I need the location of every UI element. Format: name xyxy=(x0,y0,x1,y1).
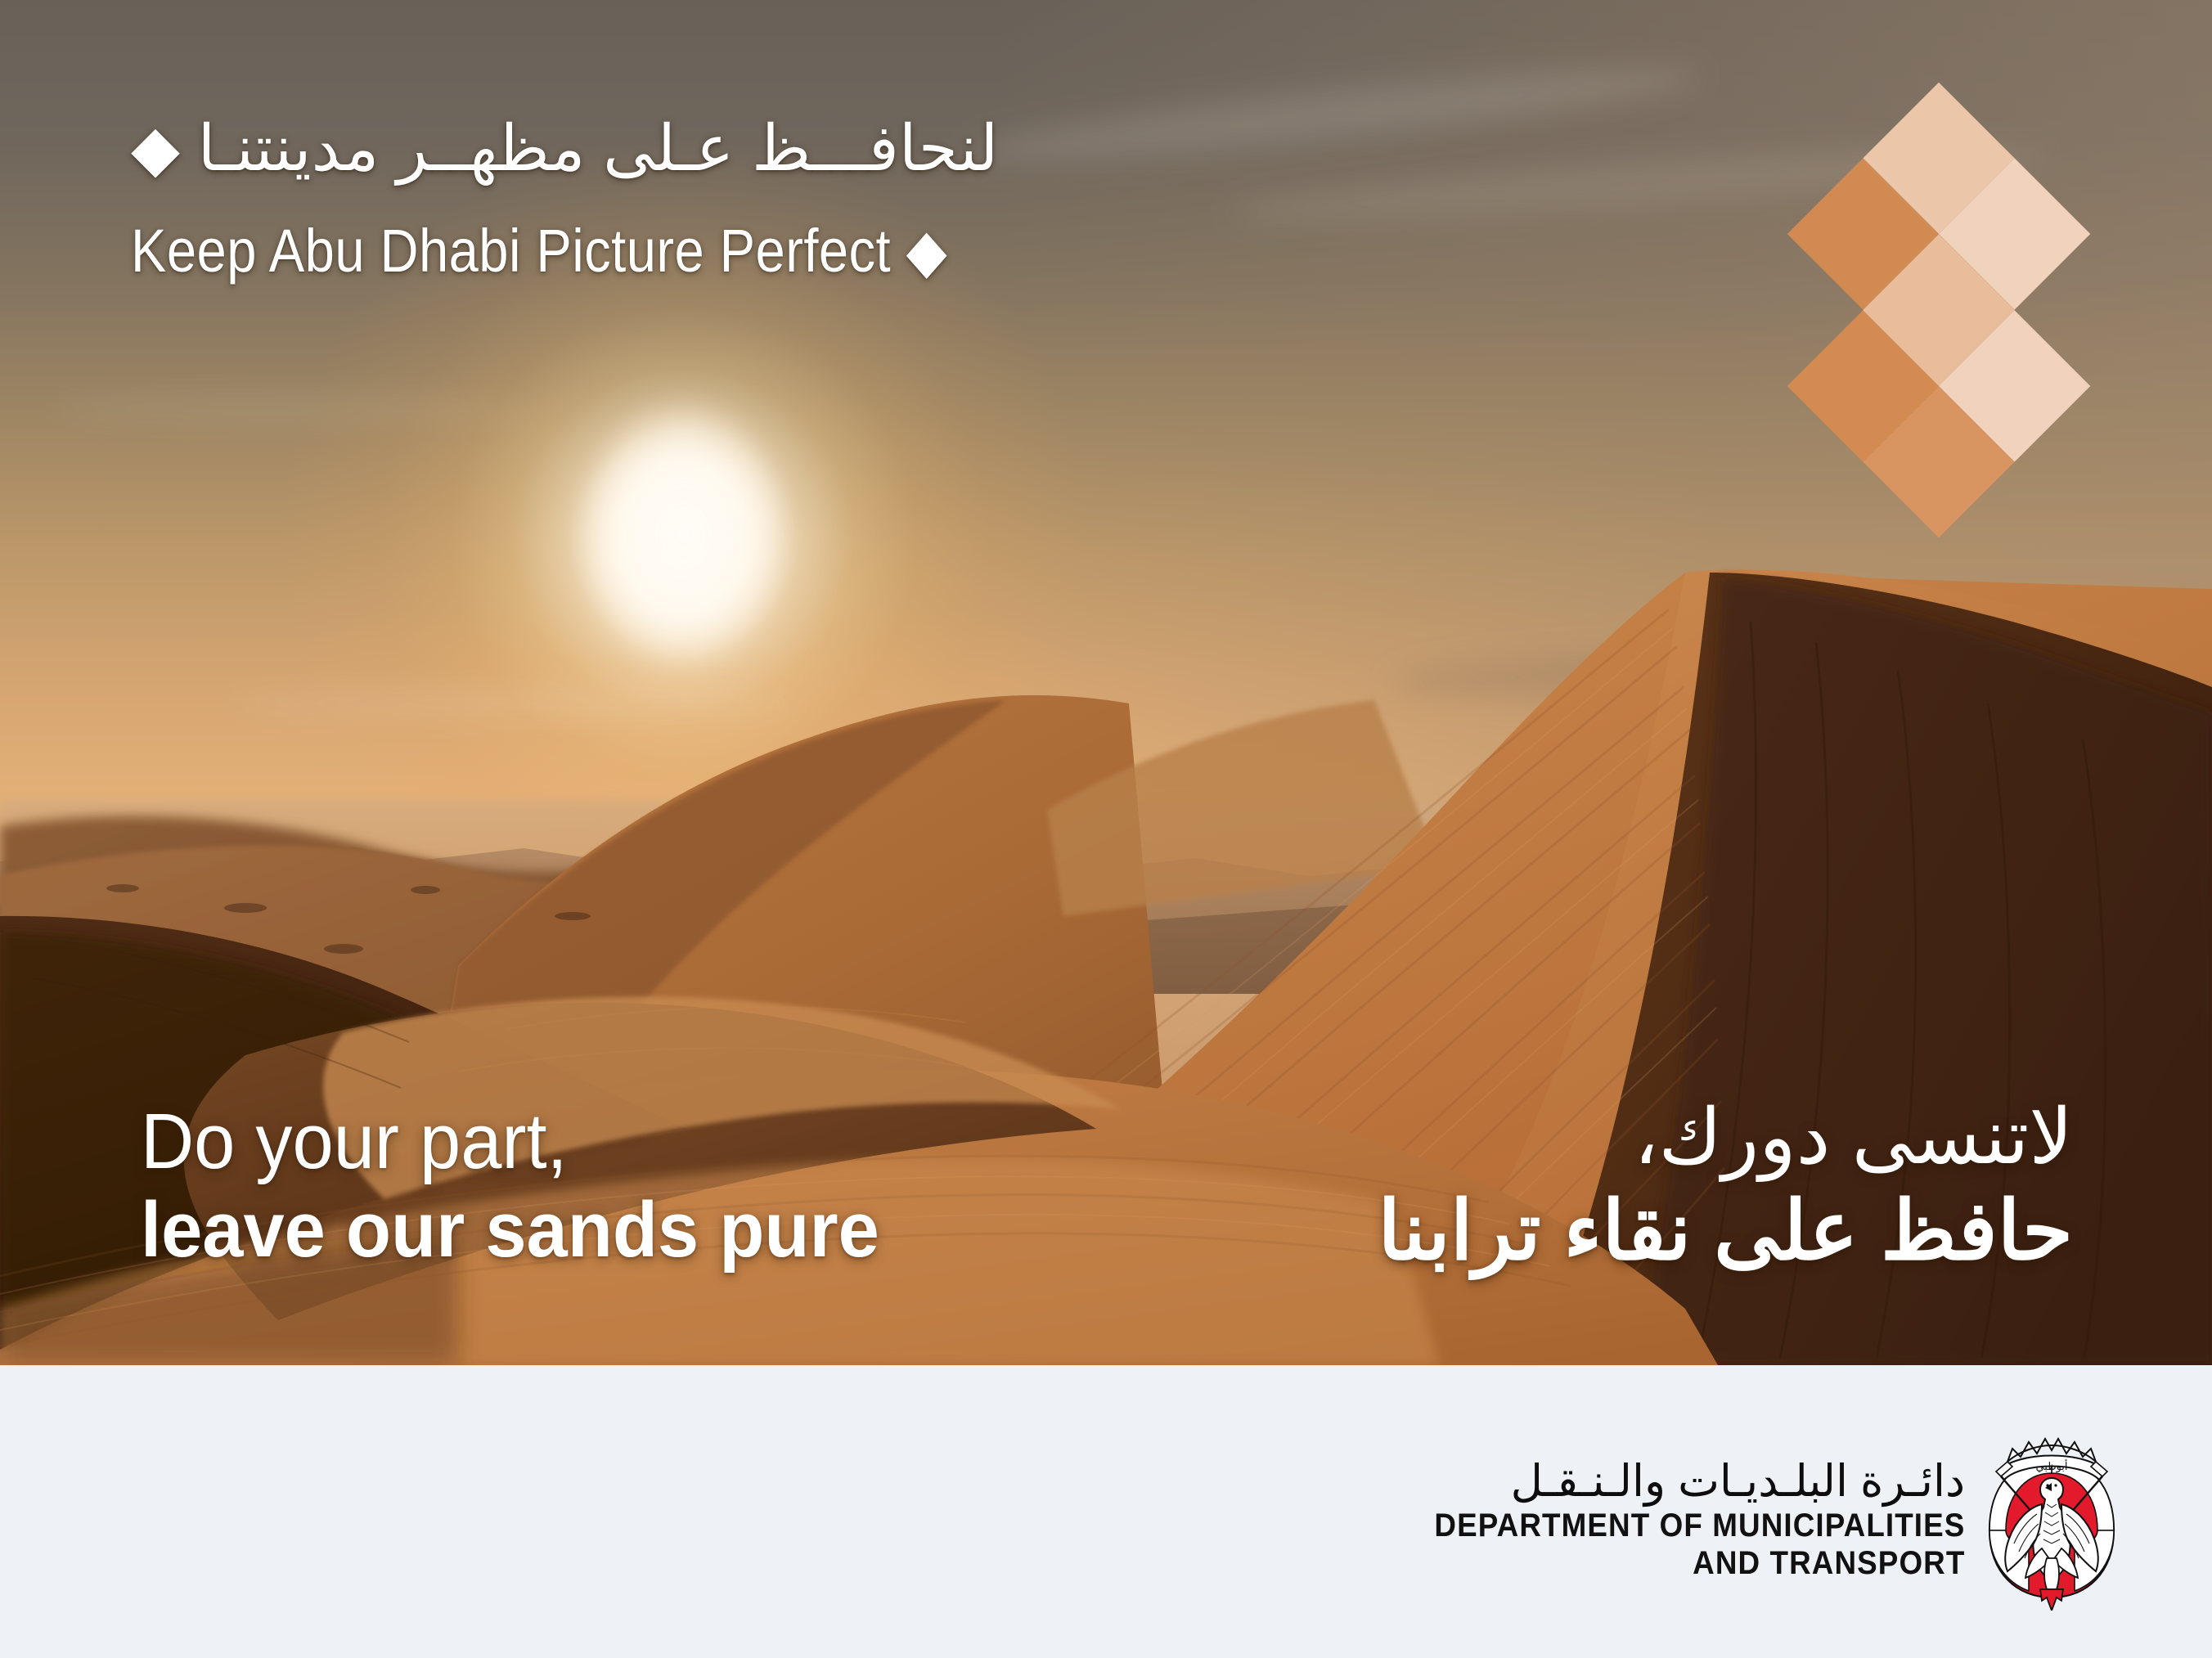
header-tagline-arabic: لنحافـــظ عـلى مظهــر مدينتنـا ◆ xyxy=(131,116,998,180)
footer-bar: دائـرة البلـديـات والـنـقـل DEPARTMENT O… xyxy=(0,1365,2212,1658)
slogan-arabic-line1: لاتنسى دورك، xyxy=(1378,1092,2073,1183)
slogan-english-line1: Do your part, xyxy=(141,1100,879,1184)
slogan-arabic-line2: حافظ على نقاء ترابنا xyxy=(1378,1183,2073,1279)
abu-dhabi-falcon-emblem: أبوظبي xyxy=(1980,1429,2124,1611)
slogan-english: Do your part, leave our sands pure xyxy=(141,1100,926,1272)
campaign-poster: لنحافـــظ عـلى مظهــر مدينتنـا ◆ Keep Ab… xyxy=(0,0,2212,1658)
emblem-arabic-label: أبوظبي xyxy=(2035,1459,2067,1473)
abu-dhabi-diamond-logo xyxy=(1787,127,2090,589)
organization-name-arabic: دائـرة البلـديـات والـنـقـل xyxy=(1388,1457,1965,1506)
header-tagline-english: Keep Abu Dhabi Picture Perfect ◆ xyxy=(131,221,947,281)
slogan-arabic: لاتنسى دورك، حافظ على نقاء ترابنا xyxy=(1378,1092,2073,1279)
government-logo-text: دائـرة البلـديـات والـنـقـل DEPARTMENT O… xyxy=(1388,1457,1965,1582)
organization-name-english-line2: AND TRANSPORT xyxy=(1434,1544,1965,1582)
government-logo: دائـرة البلـديـات والـنـقـل DEPARTMENT O… xyxy=(1388,1429,2124,1611)
desert-photo: لنحافـــظ عـلى مظهــر مدينتنـا ◆ Keep Ab… xyxy=(0,0,2212,1365)
slogan-english-line2: leave our sands pure xyxy=(141,1188,879,1272)
organization-name-english-line1: DEPARTMENT OF MUNICIPALITIES xyxy=(1434,1507,1965,1544)
